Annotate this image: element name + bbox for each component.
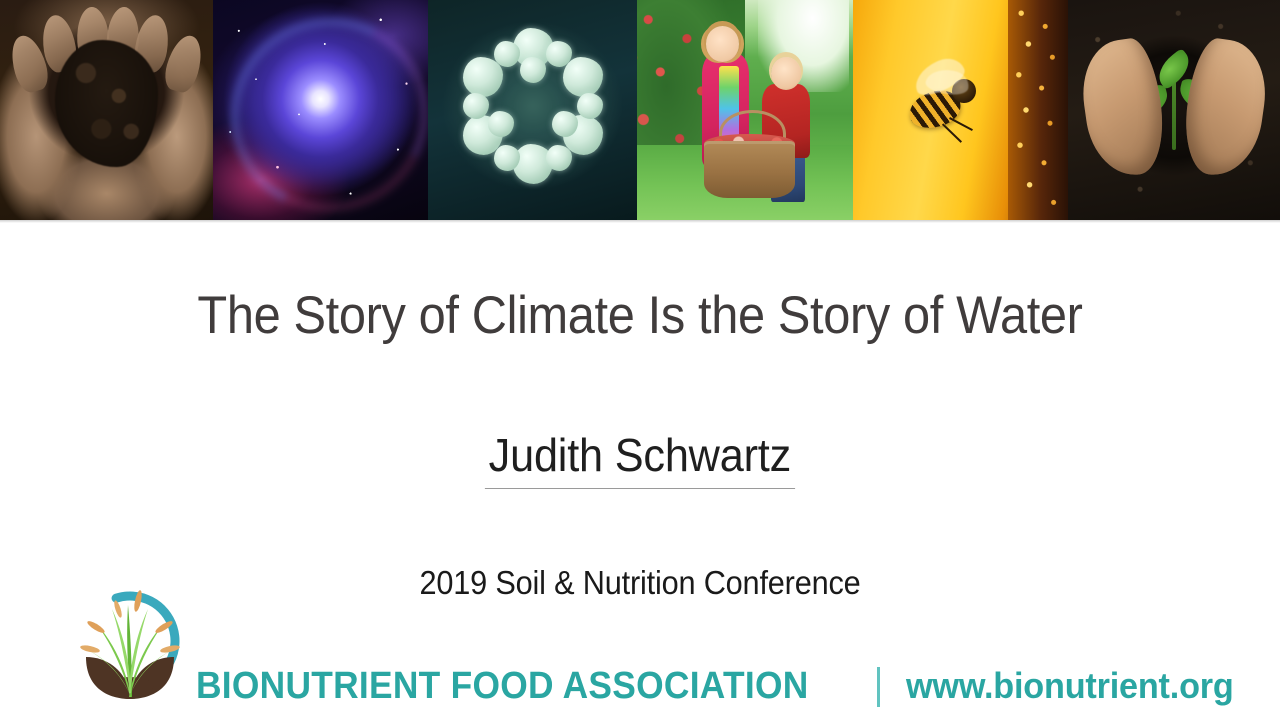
decor-crystal-ring	[460, 33, 606, 179]
speaker-line: Judith Schwartz	[0, 430, 1280, 489]
strip-image-water-crystal	[428, 0, 637, 220]
decor-crystal-lobe	[488, 111, 514, 137]
decor-sunflower-seed-band	[1008, 0, 1068, 220]
decor-child-girl-head	[706, 26, 738, 61]
strip-image-honeybee-on-sunflower	[853, 0, 1068, 220]
slide-footer: BIONUTRIENT FOOD ASSOCIATION www.bionutr…	[0, 560, 1280, 720]
decor-crystal-lobe	[577, 93, 603, 119]
organization-name: BIONUTRIENT FOOD ASSOCIATION	[196, 665, 809, 708]
decor-soil-clod	[55, 40, 157, 168]
strip-image-children-picking-apples	[637, 0, 853, 220]
decor-finger	[161, 32, 207, 96]
strip-bottom-divider	[0, 220, 1280, 223]
decor-crystal-lobe	[494, 41, 520, 67]
page-title: The Story of Climate Is the Story of Wat…	[51, 287, 1229, 345]
decor-bee-leg	[949, 117, 973, 131]
decor-apple-basket	[704, 141, 795, 198]
bionutrient-logo-icon	[68, 565, 192, 701]
strip-image-hands-heart-seedling	[1068, 0, 1280, 220]
website-url[interactable]: www.bionutrient.org	[906, 665, 1234, 707]
header-image-strip	[0, 0, 1280, 220]
decor-bee-leg	[942, 123, 962, 142]
decor-crystal-lobe	[563, 57, 603, 97]
footer-divider-bar	[877, 667, 880, 707]
decor-stars	[213, 0, 428, 220]
speaker-name: Judith Schwartz	[485, 430, 795, 489]
strip-image-hands-holding-soil	[0, 0, 213, 220]
decor-crystal-lobe	[520, 57, 546, 83]
footer-brand-line: BIONUTRIENT FOOD ASSOCIATION www.bionutr…	[196, 665, 1250, 708]
strip-image-spiral-galaxy	[213, 0, 428, 220]
presentation-slide: The Story of Climate Is the Story of Wat…	[0, 0, 1280, 720]
decor-crystal-lobe	[546, 145, 572, 171]
